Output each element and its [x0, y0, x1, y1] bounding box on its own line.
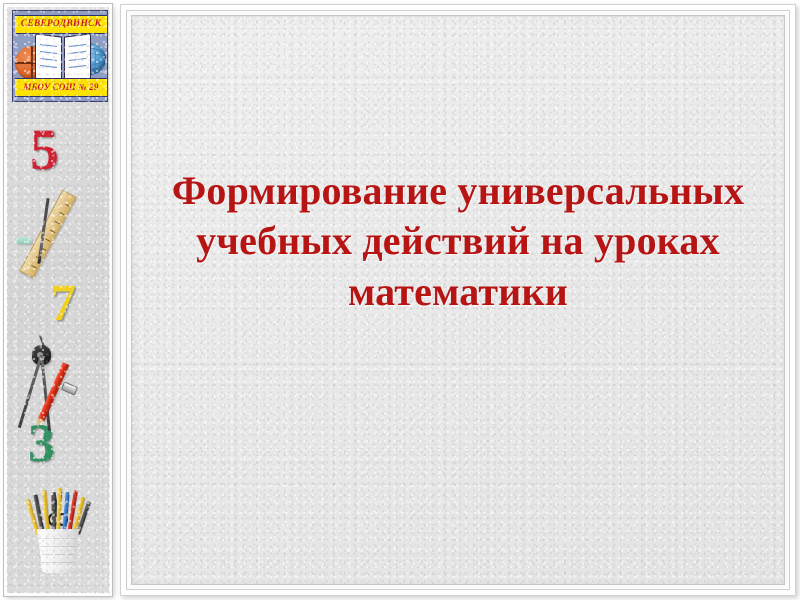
- slide-content-frame-inner: Формирование универсальных учебных дейст…: [126, 10, 790, 590]
- page-title: Формирование универсальных учебных дейст…: [158, 166, 758, 317]
- eraser-icon: [16, 237, 32, 244]
- emblem-artwork: [13, 32, 107, 80]
- grade-digit-7: 7: [50, 278, 76, 330]
- open-book-icon: [35, 35, 91, 81]
- title-block: Формирование универсальных учебных дейст…: [158, 166, 758, 317]
- presentation-slide: СЕВЕРОДВИНСК: [0, 0, 800, 600]
- school-emblem: СЕВЕРОДВИНСК: [12, 10, 108, 102]
- slide-content-frame: Формирование универсальных учебных дейст…: [120, 4, 796, 596]
- pencil-cup-icon: [34, 529, 82, 573]
- emblem-school-band: МБОУ СОШ № 29: [15, 78, 107, 97]
- grade-digit-5: 5: [30, 121, 59, 179]
- sidebar-decorative-column: СЕВЕРОДВИНСК: [4, 4, 112, 596]
- slide-content-panel: Формирование универсальных учебных дейст…: [131, 15, 785, 585]
